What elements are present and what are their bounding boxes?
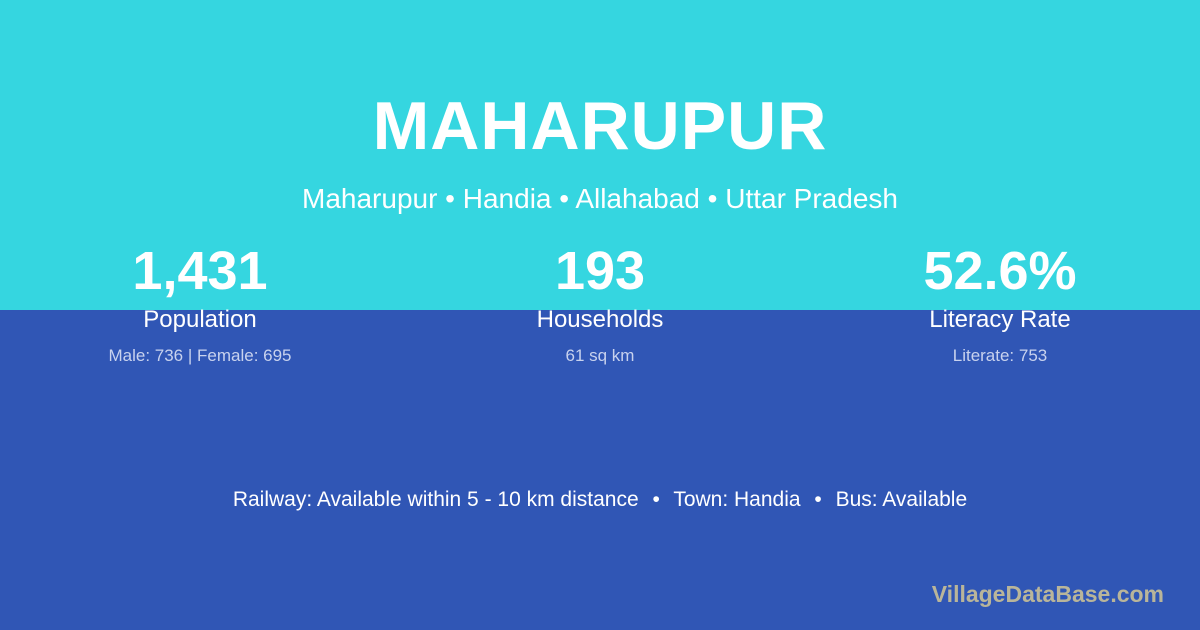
- fact-separator: •: [806, 488, 829, 511]
- page-title: MAHARUPUR: [0, 84, 1200, 168]
- stat-value: 1,431: [0, 240, 400, 302]
- stat-literacy-rate: 52.6% Literacy Rate Literate: 753: [800, 240, 1200, 368]
- stat-sublabel: Male: 736 | Female: 695: [0, 344, 400, 368]
- fact-separator: •: [644, 488, 667, 511]
- facilities-line: Railway: Available within 5 - 10 km dist…: [0, 484, 1200, 516]
- stat-sublabel: Literate: 753: [800, 344, 1200, 368]
- stat-population: 1,431 Population Male: 736 | Female: 695: [0, 240, 400, 368]
- site-brand: VillageDataBase.com: [932, 580, 1164, 608]
- stats-row: 1,431 Population Male: 736 | Female: 695…: [0, 240, 1200, 368]
- fact-bus: Bus: Available: [836, 488, 968, 511]
- stat-value: 193: [400, 240, 800, 302]
- stat-households: 193 Households 61 sq km: [400, 240, 800, 368]
- breadcrumb: Maharupur • Handia • Allahabad • Uttar P…: [0, 182, 1200, 216]
- fact-railway: Railway: Available within 5 - 10 km dist…: [233, 488, 639, 511]
- stat-value: 52.6%: [800, 240, 1200, 302]
- fact-town: Town: Handia: [673, 488, 800, 511]
- stat-sublabel: 61 sq km: [400, 344, 800, 368]
- stat-label: Households: [400, 304, 800, 336]
- stat-label: Literacy Rate: [800, 304, 1200, 336]
- stat-label: Population: [0, 304, 400, 336]
- village-info-card: MAHARUPUR Maharupur • Handia • Allahabad…: [0, 0, 1200, 630]
